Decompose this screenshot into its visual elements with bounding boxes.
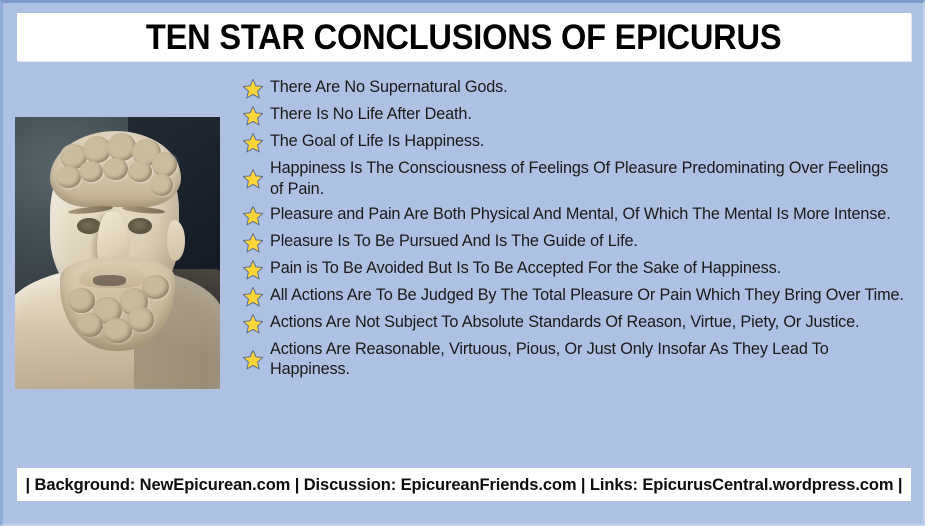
list-item: Actions Are Not Subject To Absolute Stan… <box>242 312 914 335</box>
bust-eye-right <box>128 218 153 234</box>
star-icon <box>242 259 264 281</box>
title-banner: TEN STAR CONCLUSIONS OF EPICURUS <box>17 13 911 61</box>
beard-curl <box>142 275 169 299</box>
list-item: There Are No Supernatural Gods. <box>242 77 914 100</box>
star-icon <box>242 168 264 190</box>
slide-canvas: TEN STAR CONCLUSIONS OF EPICURUS <box>0 0 925 526</box>
beard-curl <box>68 288 95 312</box>
hair-curl <box>103 158 128 180</box>
list-item: Actions Are Reasonable, Virtuous, Pious,… <box>242 339 914 381</box>
list-item-text: The Goal of Life Is Happiness. <box>270 131 484 152</box>
star-icon <box>242 205 264 227</box>
list-item: There Is No Life After Death. <box>242 104 914 127</box>
list-item: Pleasure Is To Be Pursued And Is The Gui… <box>242 231 914 254</box>
list-item-text: There Are No Supernatural Gods. <box>270 77 508 98</box>
list-item-text: Actions Are Reasonable, Virtuous, Pious,… <box>270 339 904 381</box>
list-item: Pain is To Be Avoided But Is To Be Accep… <box>242 258 914 281</box>
beard-curl <box>128 307 155 331</box>
star-icon <box>242 286 264 308</box>
list-item: Happiness Is The Consciousness of Feelin… <box>242 158 914 200</box>
list-item-text: All Actions Are To Be Judged By The Tota… <box>270 285 904 306</box>
star-icon <box>242 349 264 371</box>
list-item: Pleasure and Pain Are Both Physical And … <box>242 204 914 227</box>
list-item: All Actions Are To Be Judged By The Tota… <box>242 285 914 308</box>
footer-links-bar: | Background: NewEpicurean.com | Discuss… <box>17 468 911 501</box>
star-icon <box>242 313 264 335</box>
hair-curl <box>152 152 177 176</box>
list-item: The Goal of Life Is Happiness. <box>242 131 914 154</box>
bust-mouth <box>93 275 126 286</box>
list-item-text: Pleasure and Pain Are Both Physical And … <box>270 204 891 225</box>
star-icon <box>242 232 264 254</box>
epicurus-bust-image <box>15 117 220 389</box>
footer-text: | Background: NewEpicurean.com | Discuss… <box>26 475 903 495</box>
list-item-text: Happiness Is The Consciousness of Feelin… <box>270 158 904 200</box>
star-icon <box>242 132 264 154</box>
conclusions-list: There Are No Supernatural Gods.There Is … <box>242 77 914 384</box>
star-icon <box>242 78 264 100</box>
star-icon <box>242 105 264 127</box>
hair-curl <box>56 166 81 188</box>
hair-curl <box>150 174 173 196</box>
list-item-text: Actions Are Not Subject To Absolute Stan… <box>270 312 859 333</box>
list-item-text: Pain is To Be Avoided But Is To Be Accep… <box>270 258 781 279</box>
list-item-text: Pleasure Is To Be Pursued And Is The Gui… <box>270 231 638 252</box>
list-item-text: There Is No Life After Death. <box>270 104 472 125</box>
page-title: TEN STAR CONCLUSIONS OF EPICURUS <box>146 20 781 55</box>
